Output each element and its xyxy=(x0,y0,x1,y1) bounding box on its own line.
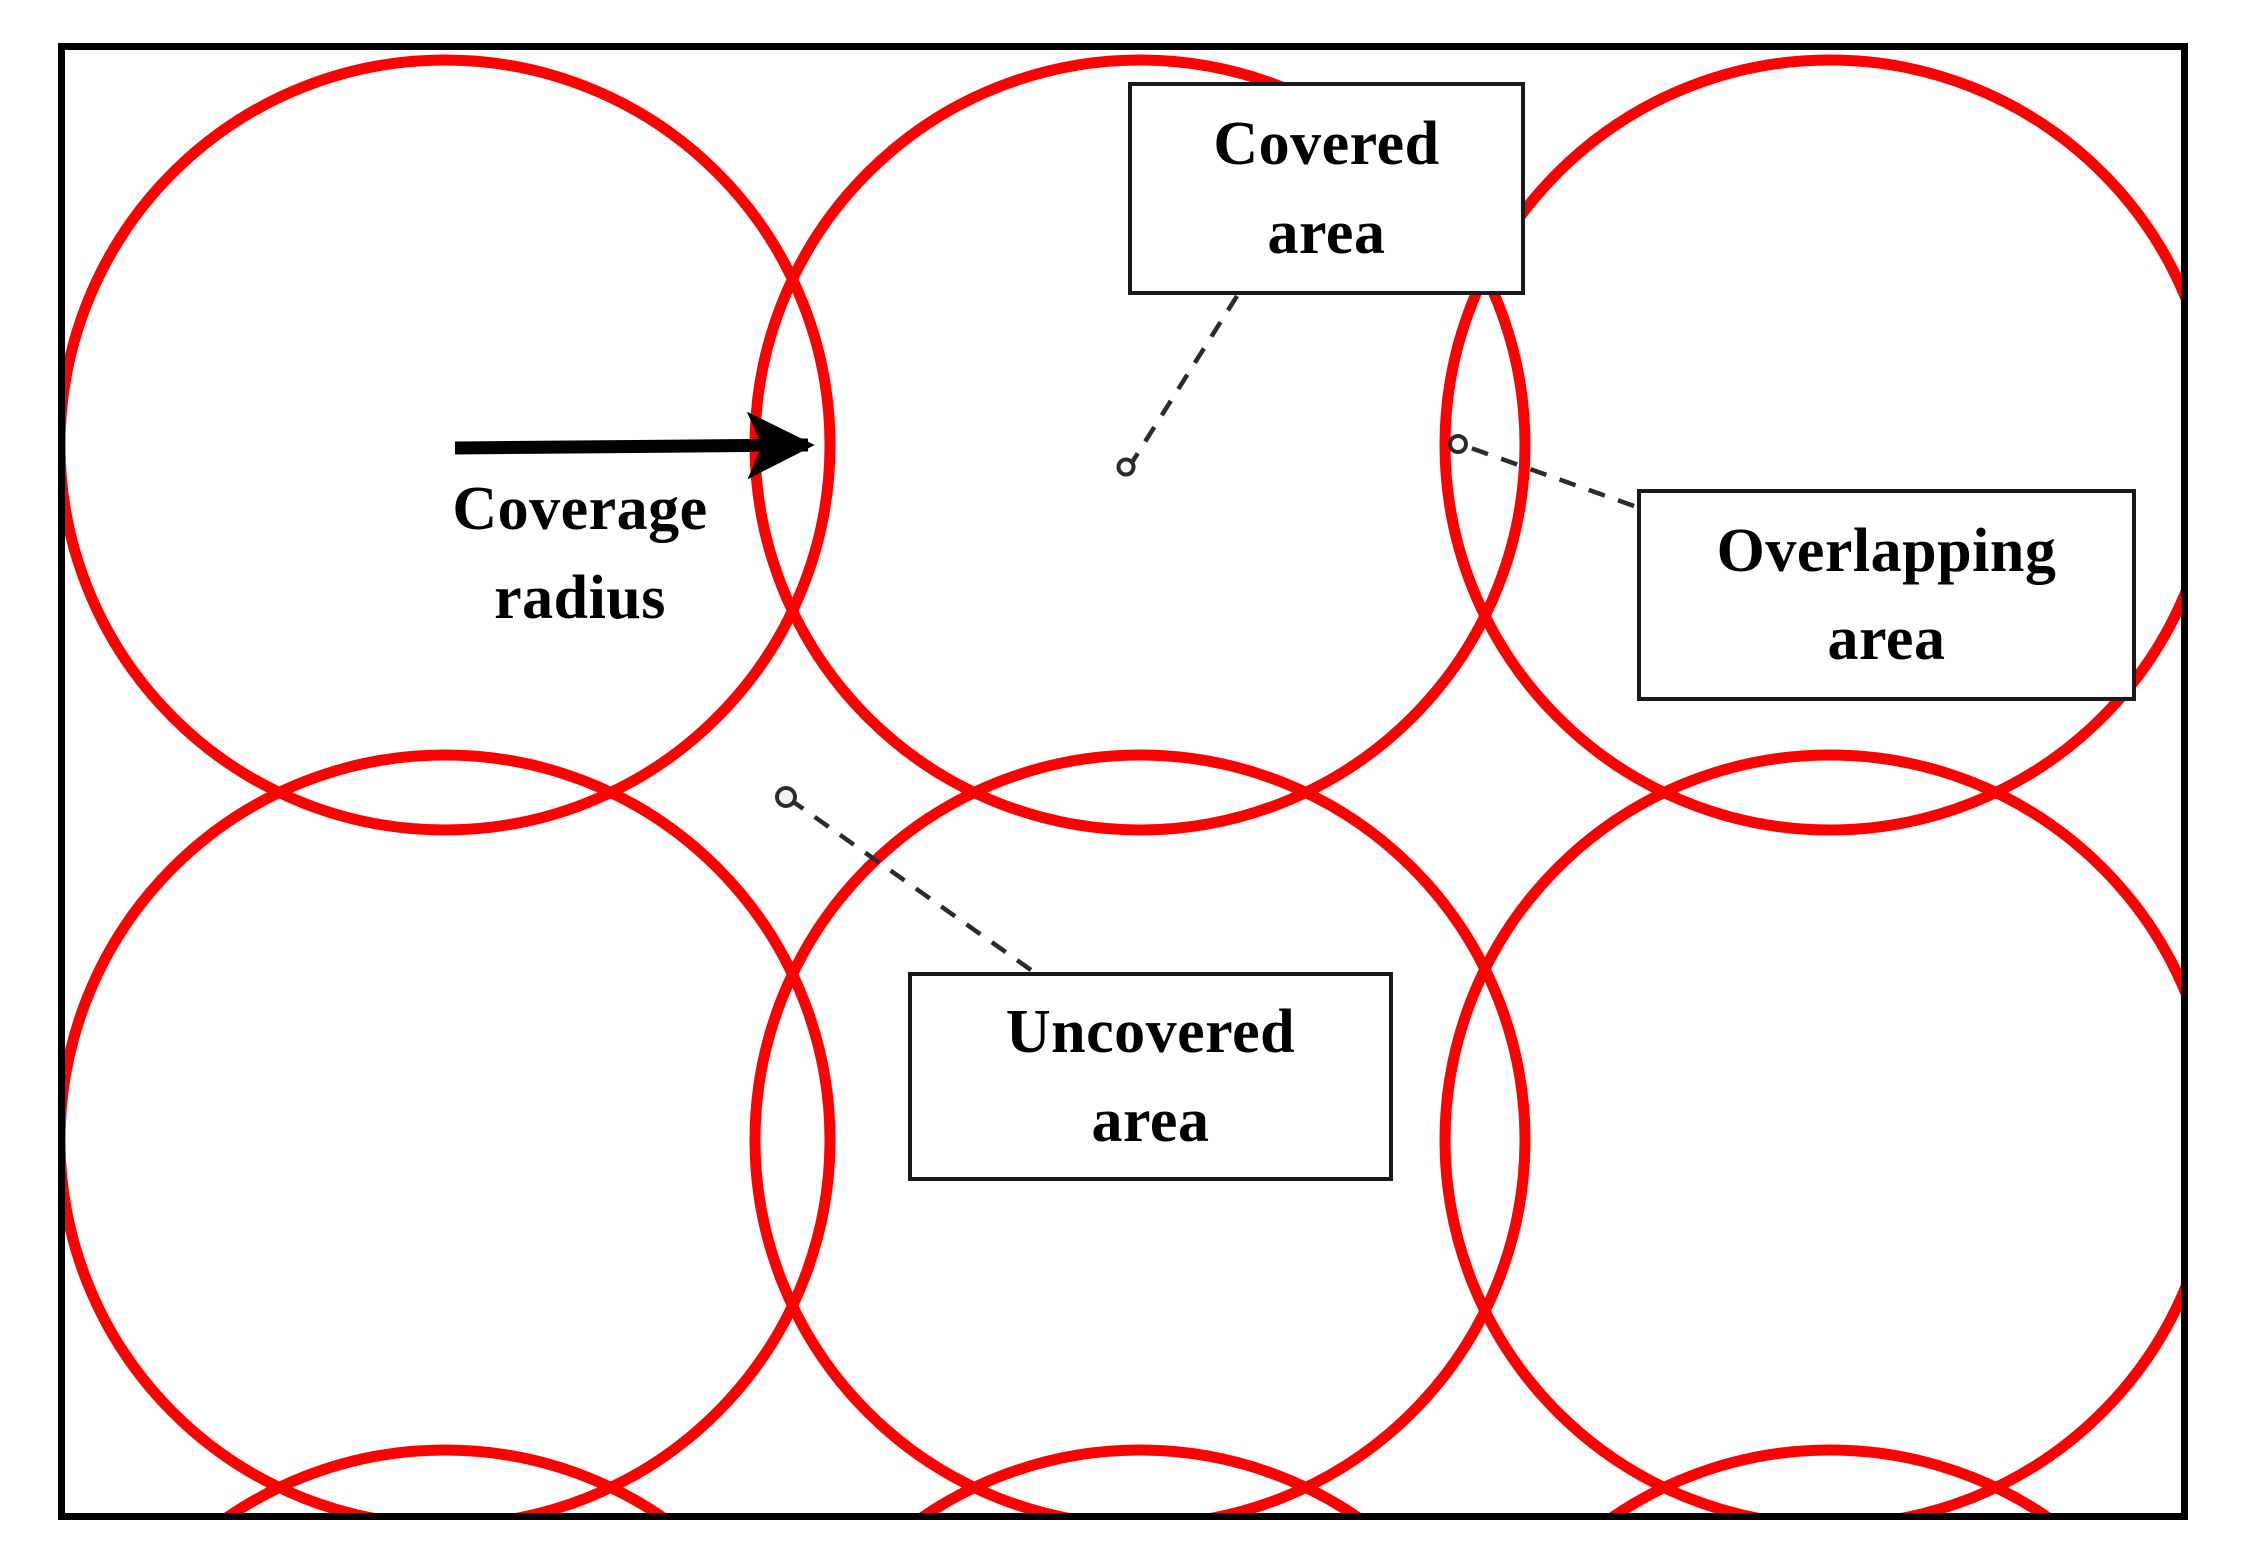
covered-area-leader xyxy=(1119,296,1238,475)
uncovered-area-callout: Uncovered area xyxy=(908,972,1393,1181)
uncovered-area-leader-endpoint xyxy=(777,788,795,806)
coverage-circle xyxy=(1445,1450,2215,1564)
coverage-circle xyxy=(1445,60,2215,830)
covered-area-label-line2: area xyxy=(1268,189,1386,277)
overlapping-area-leader xyxy=(1450,436,1634,506)
coverage-circle xyxy=(1445,755,2215,1525)
diagram-canvas: Covered area Overlapping area Uncovered … xyxy=(0,0,2256,1564)
uncovered-area-label-line1: Uncovered xyxy=(1006,988,1295,1076)
overlapping-area-leader-endpoint xyxy=(1450,436,1466,452)
covered-area-leader-endpoint xyxy=(1119,460,1134,475)
coverage-radius-arrow xyxy=(455,445,808,448)
overlapping-area-label-line1: Overlapping xyxy=(1717,507,2057,595)
coverage-radius-label: Coverage radius xyxy=(410,465,750,644)
coverage-circle xyxy=(60,1450,830,1564)
covered-area-callout: Covered area xyxy=(1128,82,1525,295)
coverage-circle xyxy=(60,755,830,1525)
coverage-radius-label-line2: radius xyxy=(410,554,750,643)
overlapping-area-callout: Overlapping area xyxy=(1637,489,2136,701)
overlapping-area-label-line2: area xyxy=(1828,595,1946,683)
covered-area-label-line1: Covered xyxy=(1213,100,1439,188)
coverage-circle xyxy=(755,1450,1525,1564)
uncovered-area-label-line2: area xyxy=(1092,1077,1210,1165)
coverage-radius-label-line1: Coverage xyxy=(410,465,750,554)
